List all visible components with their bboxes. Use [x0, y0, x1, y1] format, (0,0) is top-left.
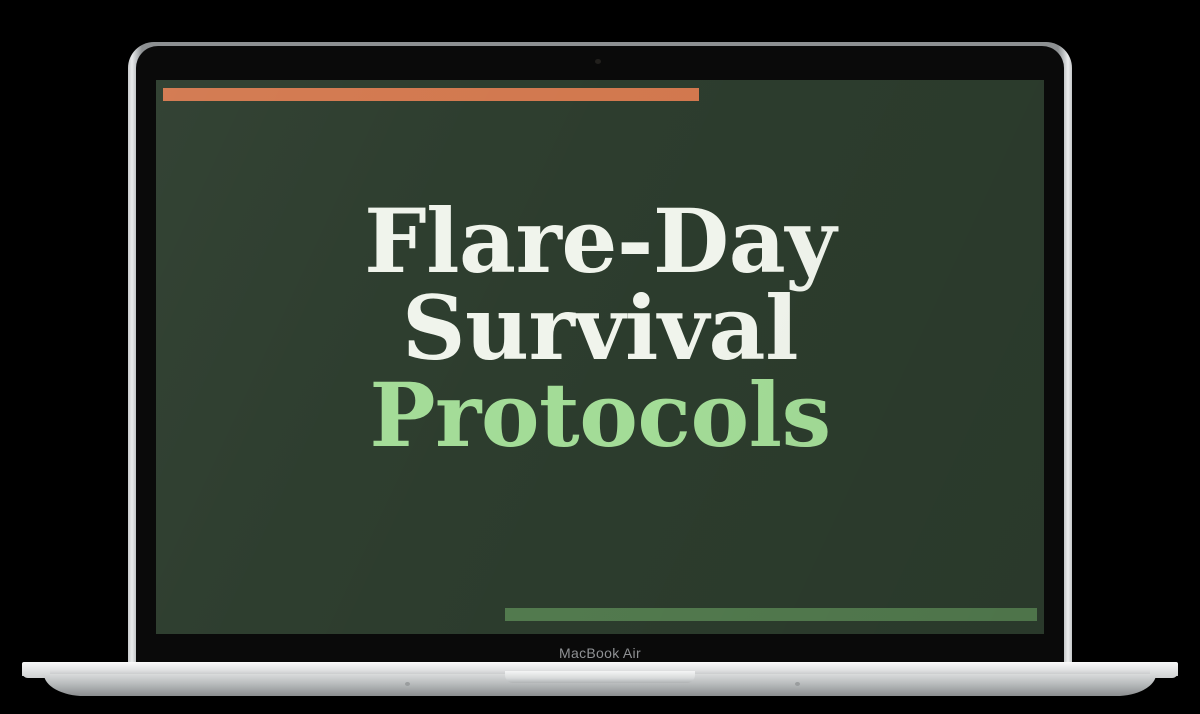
laptop-base-notch	[505, 671, 695, 683]
laptop-display: Flare-Day Survival Protocols	[156, 80, 1044, 634]
macbook-air-mockup: Flare-Day Survival Protocols MacBook Air	[0, 0, 1200, 714]
device-chin-label: MacBook Air	[0, 645, 1200, 661]
bottom-accent-bar	[505, 608, 1037, 621]
title-line-3: Protocols	[156, 372, 1044, 459]
laptop-base-foot-right	[795, 682, 800, 686]
title-line-2: Survival	[156, 285, 1044, 372]
screenshot-canvas: Flare-Day Survival Protocols MacBook Air	[0, 0, 1200, 714]
slide-title: Flare-Day Survival Protocols	[156, 198, 1044, 459]
title-line-1: Flare-Day	[156, 198, 1044, 285]
webcam-icon	[595, 59, 601, 64]
top-accent-bar	[163, 88, 699, 101]
laptop-base-foot-left	[405, 682, 410, 686]
laptop-base	[0, 662, 1200, 714]
